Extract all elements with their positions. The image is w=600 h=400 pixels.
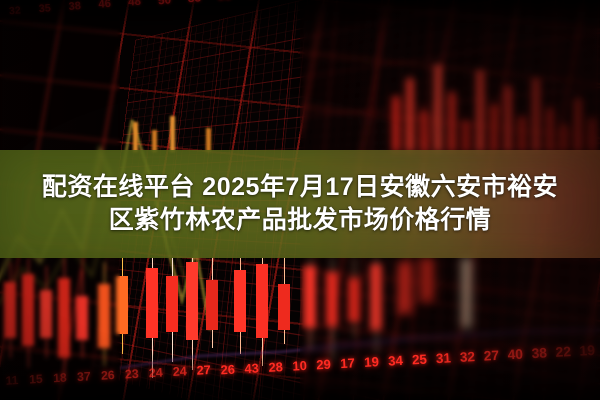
headline-line-1: 配资在线平台 2025年7月17日安徽六安市裕安 — [42, 171, 558, 205]
headline-band: 配资在线平台 2025年7月17日安徽六安市裕安 区紫竹林农产品批发市场价格行情 — [0, 150, 600, 258]
headline-line-2: 区紫竹林农产品批发市场价格行情 — [109, 204, 492, 238]
banner-image: 3235384648503331392742 11151837262324242… — [0, 0, 600, 400]
